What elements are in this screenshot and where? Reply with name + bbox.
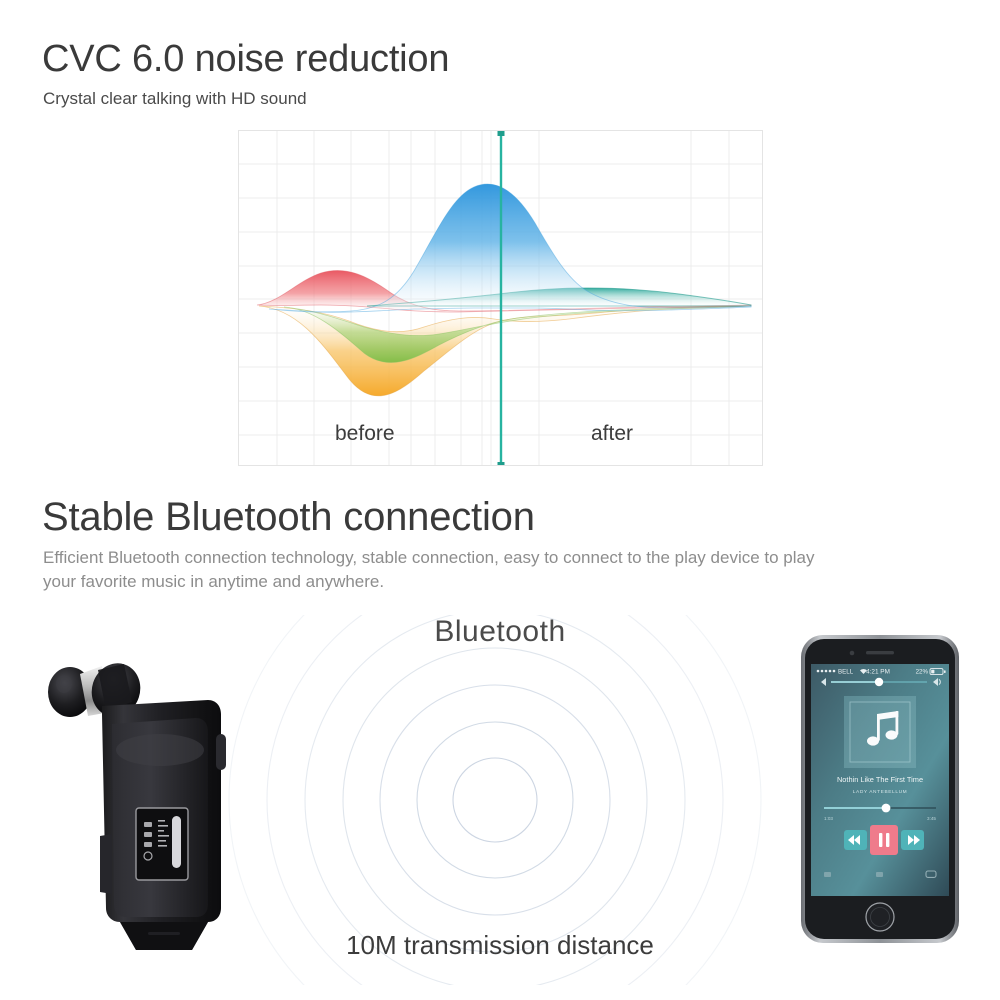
ring-2 xyxy=(417,722,573,878)
shuffle-icon xyxy=(824,872,831,877)
track-artist: LADY ANTEBELLUM xyxy=(853,789,908,795)
ring-1 xyxy=(453,758,537,842)
progress-thumb xyxy=(882,804,891,813)
transmission-distance-caption: 10M transmission distance xyxy=(215,930,785,961)
noise-section-title: CVC 6.0 noise reduction xyxy=(42,38,449,81)
album-artwork xyxy=(844,696,916,768)
noise-reduction-chart: before after xyxy=(238,130,763,466)
noise-section-subtitle: Crystal clear talking with HD sound xyxy=(43,89,307,109)
bluetooth-wordmark: Bluetooth xyxy=(215,615,785,649)
product-marketing-page: CVC 6.0 noise reduction Crystal clear ta… xyxy=(0,0,1000,1000)
status-battery: 22% xyxy=(916,669,929,676)
headset-side-button[interactable] xyxy=(216,734,226,770)
product-label-plate xyxy=(136,808,188,880)
waveform-chart-svg xyxy=(239,131,763,466)
time-total: 3:45 xyxy=(927,816,936,821)
chart-label-before: before xyxy=(335,422,395,446)
volume-slider-thumb xyxy=(875,678,883,686)
time-elapsed: 1:03 xyxy=(824,816,833,821)
list-icon xyxy=(876,872,883,877)
headset-svg xyxy=(40,640,250,960)
status-carrier: BELL xyxy=(838,669,854,676)
headset-bottom-grille xyxy=(148,932,180,935)
chart-label-after: after xyxy=(591,422,633,446)
ring-3 xyxy=(380,685,610,915)
phone-svg: BELL 4:21 PM 22% xyxy=(800,634,960,944)
smartphone-mockup: BELL 4:21 PM 22% xyxy=(800,634,960,944)
status-time: 4:21 PM xyxy=(866,669,890,676)
ring-4 xyxy=(343,648,647,952)
bluetooth-section-title: Stable Bluetooth connection xyxy=(42,495,535,540)
play-pause-button[interactable] xyxy=(870,825,898,855)
next-track-button[interactable] xyxy=(901,830,924,850)
bluetooth-range-graphic: Bluetooth 10M transmission distance xyxy=(215,615,785,985)
home-button[interactable] xyxy=(866,903,894,931)
bluetooth-section-body: Efficient Bluetooth connection technolog… xyxy=(43,546,833,594)
bluetooth-headset-product-image xyxy=(40,640,250,960)
previous-track-button[interactable] xyxy=(844,830,867,850)
track-title: Nothin Like The First Time xyxy=(837,775,923,784)
